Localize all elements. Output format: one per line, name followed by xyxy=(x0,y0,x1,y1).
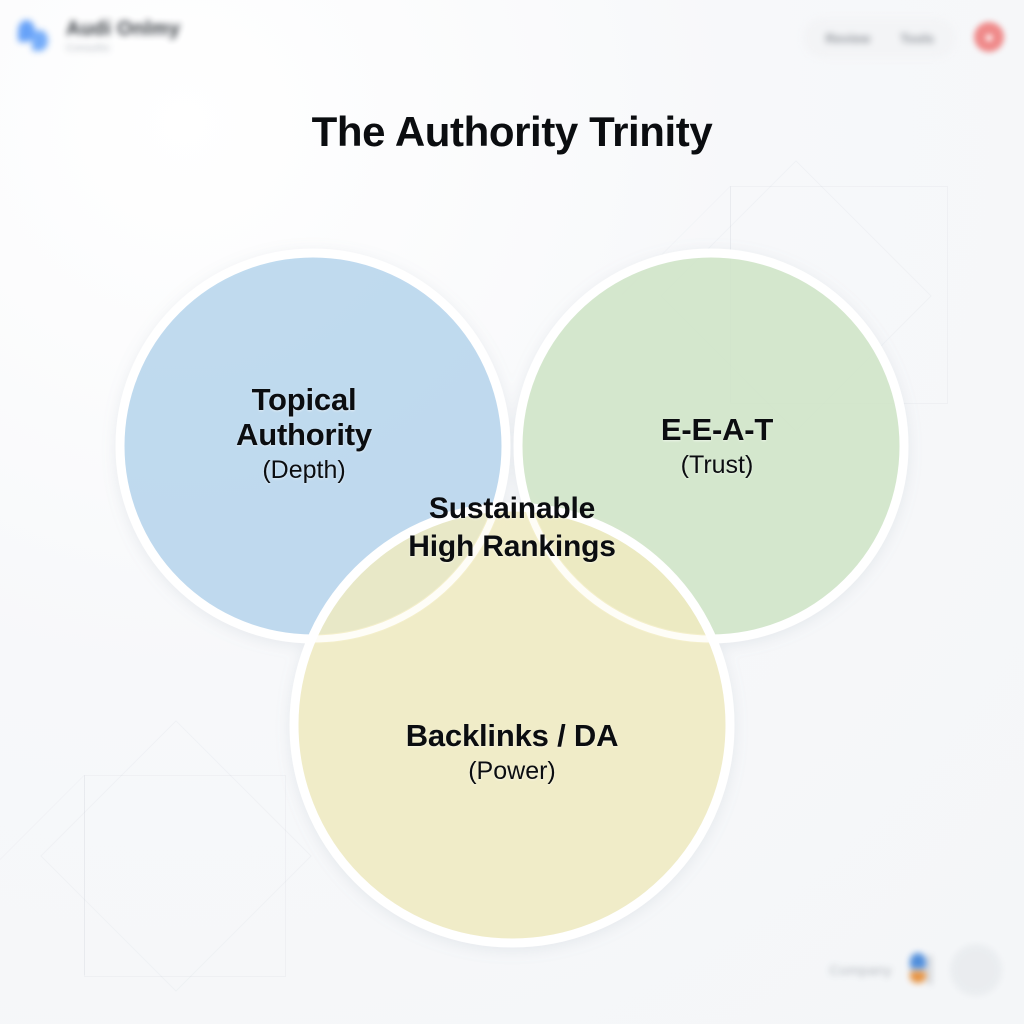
brand-glyph-icon xyxy=(910,953,932,987)
footer-watermark: Company xyxy=(829,944,1002,996)
venn-diagram xyxy=(0,0,1024,1024)
avatar[interactable] xyxy=(950,944,1002,996)
infographic-canvas: Audi Onlmy Consultis Review Tools ● The … xyxy=(0,0,1024,1024)
footer-watermark-text: Company xyxy=(829,962,892,978)
